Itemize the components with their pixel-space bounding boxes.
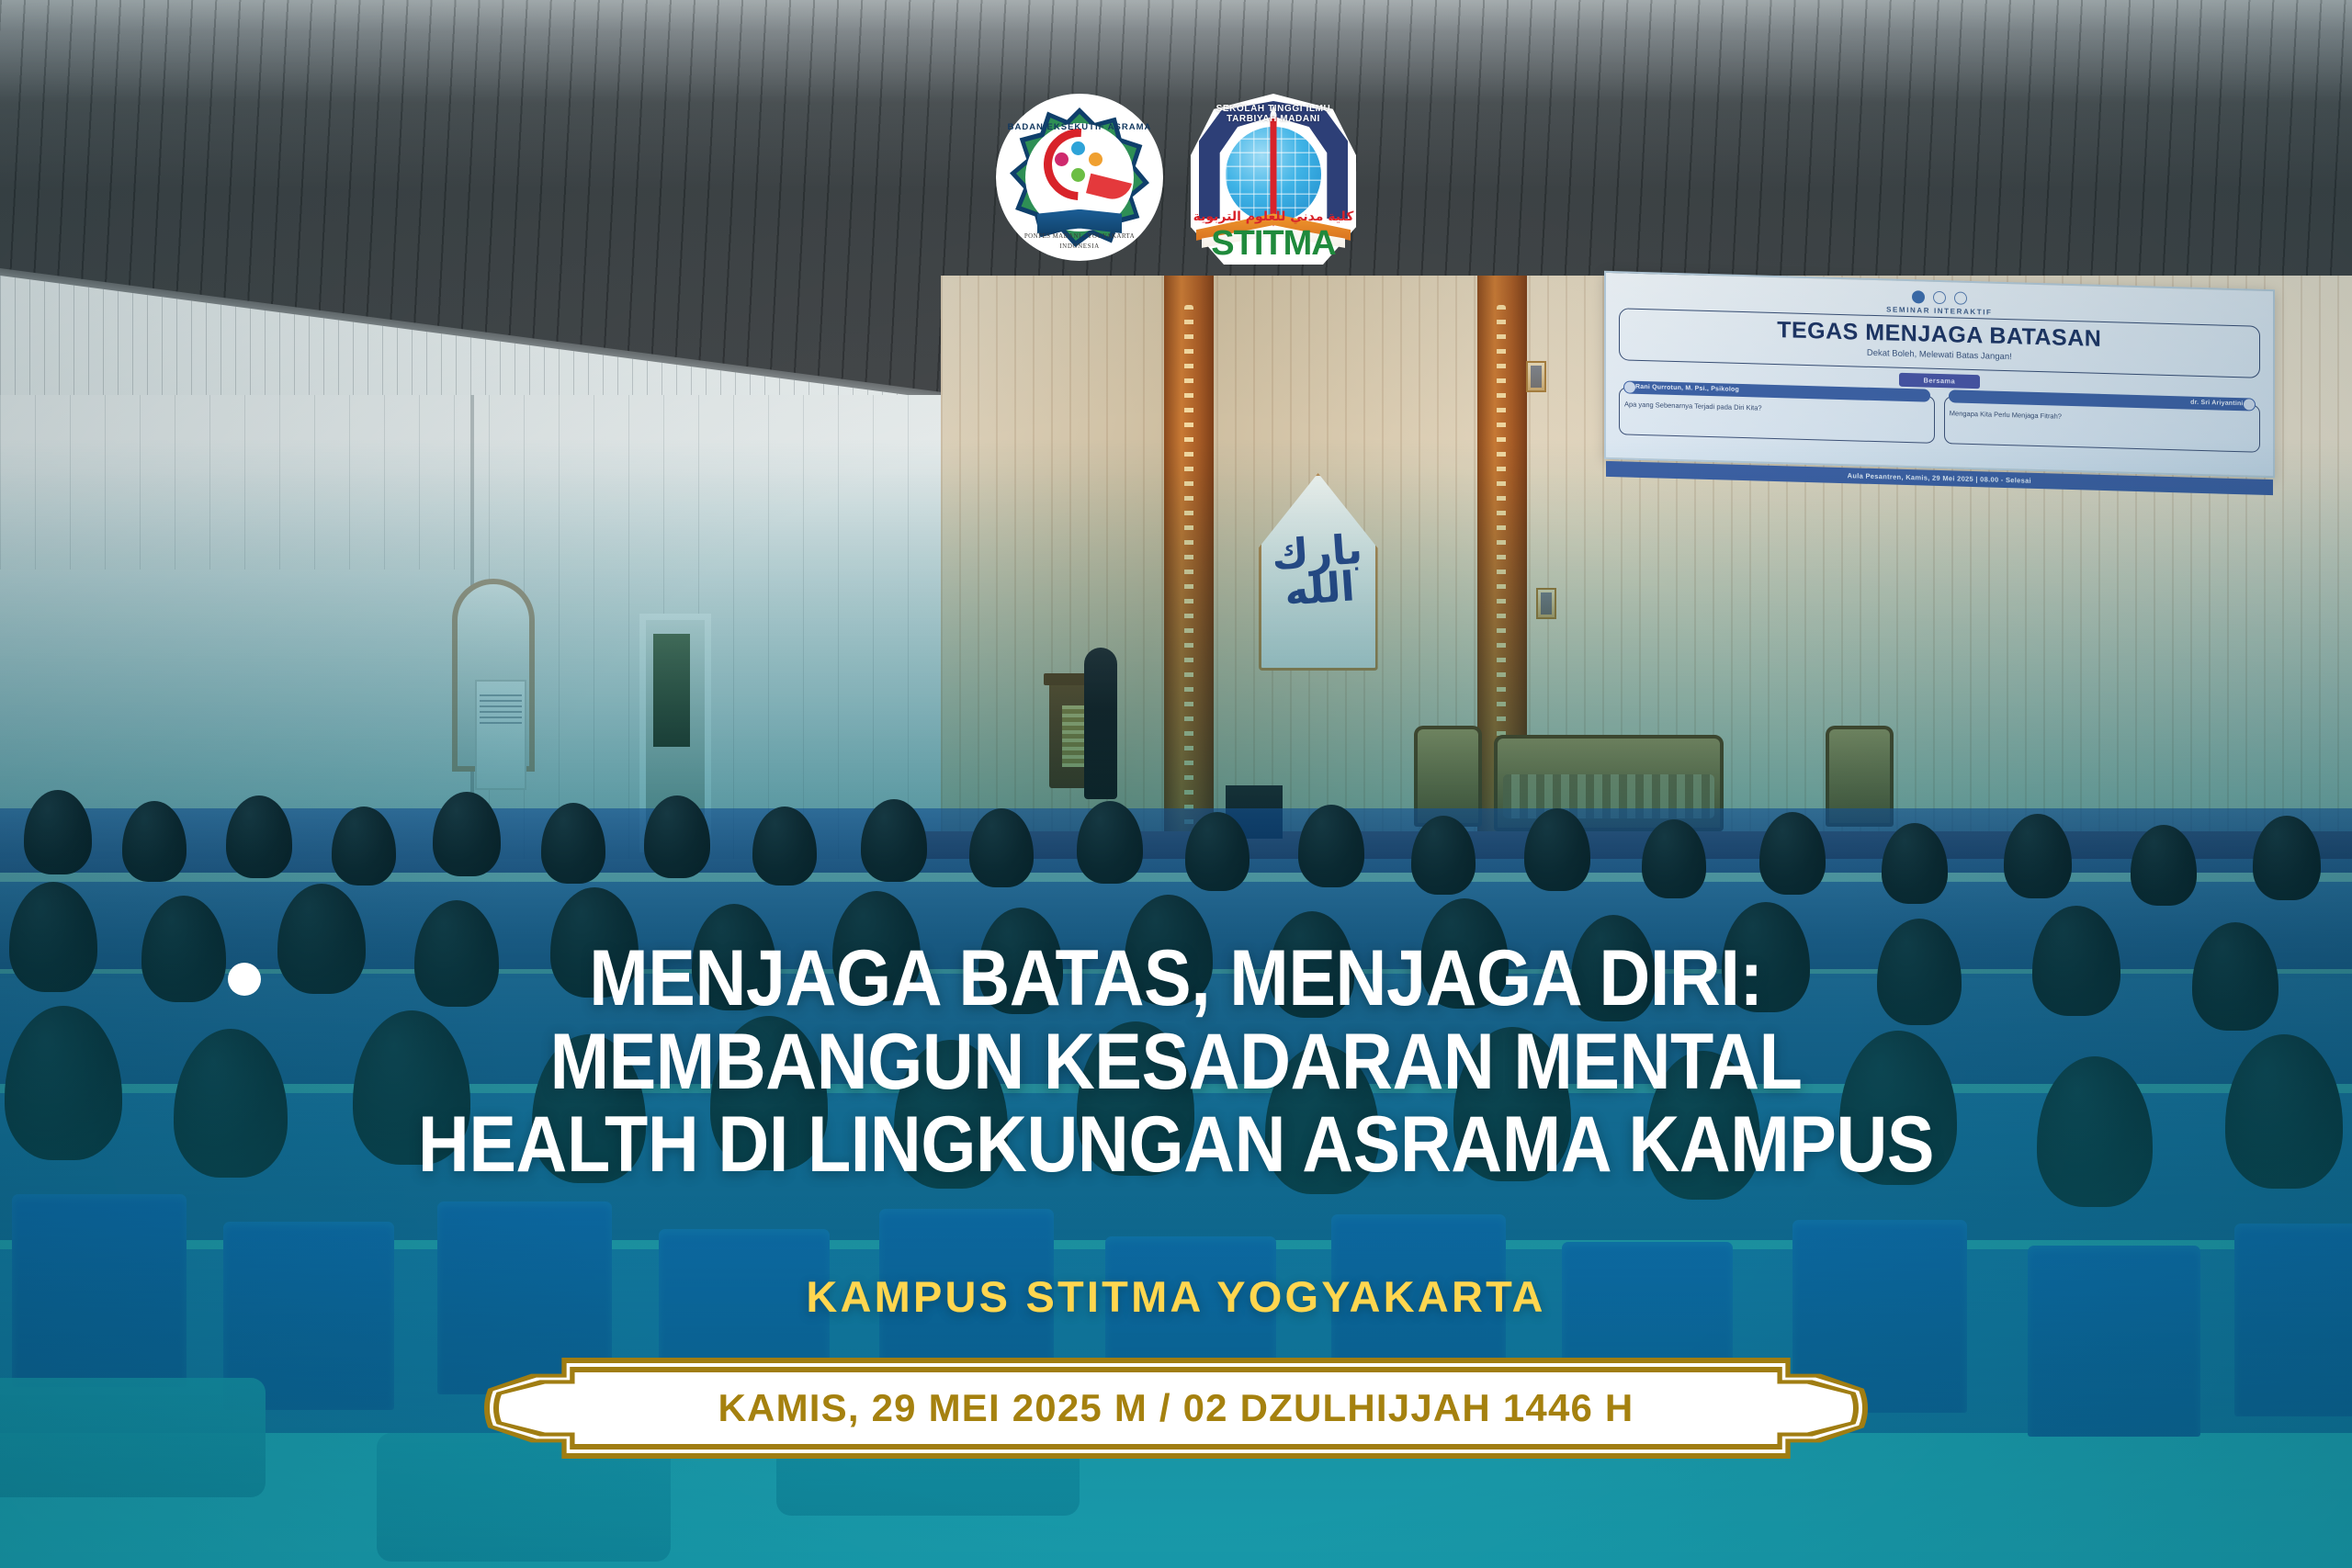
- date-badge-text: KAMIS, 29 MEI 2025 M / 02 DZULHIJJAH 144…: [718, 1386, 1634, 1430]
- bea-person-blue: [1071, 141, 1085, 155]
- date-badge-face: KAMIS, 29 MEI 2025 M / 02 DZULHIJJAH 144…: [499, 1372, 1853, 1444]
- date-badge: KAMIS, 29 MEI 2025 M / 02 DZULHIJJAH 144…: [484, 1358, 1868, 1459]
- bea-logo: BADAN EKSEKUTIF ASRAMA PONPES MADANI - Y…: [996, 94, 1163, 261]
- bea-subtext-location: PONPES MADANI - YOGYAKARTA: [996, 232, 1163, 240]
- bea-person-orange: [1089, 152, 1102, 166]
- title-line-2: MEMBANGUN KESADARAN MENTAL: [192, 1021, 2160, 1104]
- page-title: MENJAGA BATAS, MENJAGA DIRI: MEMBANGUN K…: [118, 937, 2234, 1187]
- event-poster: بارك الله SEMINAR INTERAKTIF TEGAS MENJA…: [0, 0, 2352, 1568]
- bea-people-icon: [1053, 141, 1106, 189]
- title-line-1: MENJAGA BATAS, MENJAGA DIRI:: [192, 937, 2160, 1021]
- stitma-ring-text: SEKOLAH TINGGI ILMU TARBIYAH MADANI: [1191, 105, 1356, 160]
- title-line-3: HEALTH DI LINGKUNGAN ASRAMA KAMPUS: [192, 1103, 2160, 1187]
- bea-subtext-country: INDONESIA: [996, 243, 1163, 250]
- bea-person-green: [1071, 168, 1085, 182]
- stitma-logo: SEKOLAH TINGGI ILMU TARBIYAH MADANI كلية…: [1191, 94, 1356, 265]
- venue-subtitle: KAMPUS STITMA YOGYAKARTA: [0, 1271, 2352, 1322]
- bea-ring-text: BADAN EKSEKUTIF ASRAMA: [996, 122, 1163, 132]
- poster-content: BADAN EKSEKUTIF ASRAMA PONPES MADANI - Y…: [0, 0, 2352, 1568]
- stitma-arabic-text: كلية مدني للعلوم التربوية: [1191, 209, 1356, 224]
- logo-row: BADAN EKSEKUTIF ASRAMA PONPES MADANI - Y…: [0, 94, 2352, 265]
- stitma-name-text: STITMA: [1191, 226, 1356, 261]
- bea-person-pink: [1055, 152, 1069, 166]
